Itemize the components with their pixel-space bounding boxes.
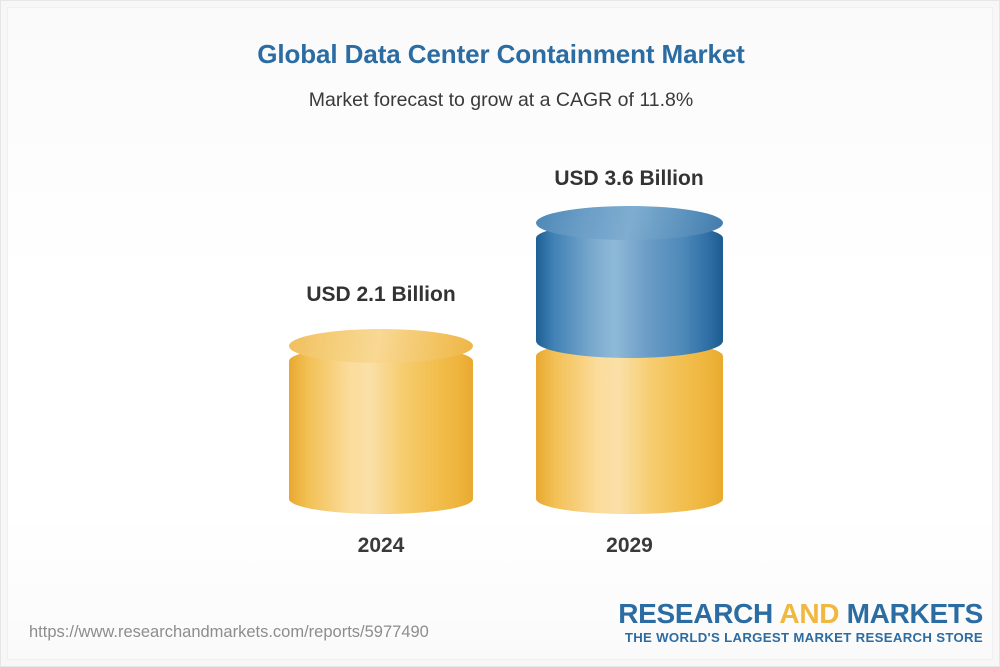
bar-2024-top-cap (289, 329, 473, 363)
bar-2029-top-cap (536, 206, 723, 240)
research-and-markets-logo[interactable]: RESEARCH AND MARKETS THE WORLD'S LARGEST… (618, 599, 983, 645)
logo-wordmark: RESEARCH AND MARKETS (618, 599, 983, 628)
bar-2024[interactable] (289, 329, 473, 514)
plot-area: USD 2.1 Billion 2024 USD 3.6 Billion 202… (1, 1, 1000, 667)
logo-tagline: THE WORLD'S LARGEST MARKET RESEARCH STOR… (618, 630, 983, 645)
bar-2029-category-label: 2029 (536, 534, 723, 558)
source-url[interactable]: https://www.researchandmarkets.com/repor… (29, 623, 429, 642)
logo-word-research: RESEARCH (618, 598, 773, 629)
bar-2029-value-label: USD 3.6 Billion (517, 167, 741, 191)
chart-figure: Global Data Center Containment Market Ma… (0, 0, 1000, 667)
bar-2024-value-label: USD 2.1 Billion (269, 283, 493, 307)
bar-2024-body (289, 346, 473, 514)
logo-word-and: AND (779, 598, 839, 629)
logo-word-markets: MARKETS (847, 598, 983, 629)
bar-2029-growth-body (536, 223, 723, 358)
bar-2029-base-body (536, 341, 723, 514)
bar-2024-category-label: 2024 (289, 534, 473, 558)
bar-2029[interactable] (536, 206, 723, 514)
